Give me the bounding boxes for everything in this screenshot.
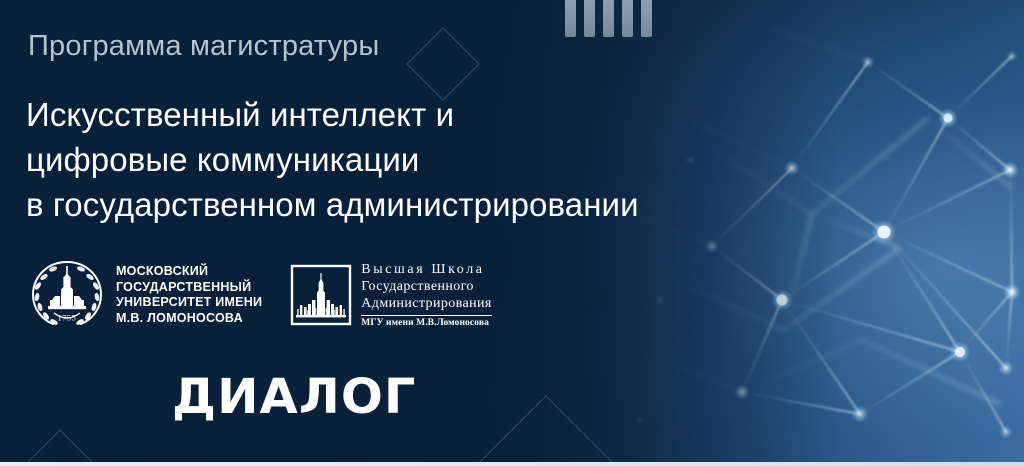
vshga-line-2: Государственного <box>361 278 491 295</box>
bottom-strip <box>0 462 1024 466</box>
vshga-subtitle: МГУ имени М.В.Ломоносова <box>361 318 491 329</box>
msu-emblem-icon: 1755 <box>28 256 106 334</box>
title-line-1: Искусственный интеллект и <box>26 92 639 137</box>
msu-line-1: МОСКОВСКИЙ <box>116 264 262 280</box>
title-line-3: в государственном администрировании <box>26 182 639 227</box>
msu-line-3: УНИВЕРСИТЕТ ИМЕНИ <box>116 295 262 311</box>
title-line-2: цифровые коммуникации <box>26 137 639 182</box>
dialog-wordmark: ДИАЛОГ <box>172 373 416 421</box>
vshga-line-1: Высшая Школа <box>361 261 491 278</box>
msu-line-4: М.В. ЛОМОНОСОВА <box>116 311 262 327</box>
program-banner: Программа магистратуры Искусственный инт… <box>0 0 1024 466</box>
vshga-logo-text: Высшая Школа Государственного Администри… <box>361 261 491 329</box>
msu-logo-text: МОСКОВСКИЙ ГОСУДАРСТВЕННЫЙ УНИВЕРСИТЕТ И… <box>116 264 262 326</box>
vshga-divider <box>361 315 491 316</box>
svg-text:1755: 1755 <box>58 314 77 323</box>
logo-row: 1755 МОСКОВСКИЙ ГОСУДАРСТВЕННЫЙ УНИВЕРСИ… <box>28 256 492 334</box>
program-title: Искусственный интеллект и цифровые комму… <box>26 92 639 227</box>
vshga-emblem-icon <box>290 264 352 326</box>
msu-line-2: ГОСУДАРСТВЕННЫЙ <box>116 280 262 296</box>
program-kicker: Программа магистратуры <box>28 29 379 63</box>
vshga-line-3: Администрирования <box>361 295 491 312</box>
msu-logo: 1755 МОСКОВСКИЙ ГОСУДАРСТВЕННЫЙ УНИВЕРСИ… <box>28 256 262 334</box>
vshga-logo: Высшая Школа Государственного Администри… <box>290 261 491 329</box>
